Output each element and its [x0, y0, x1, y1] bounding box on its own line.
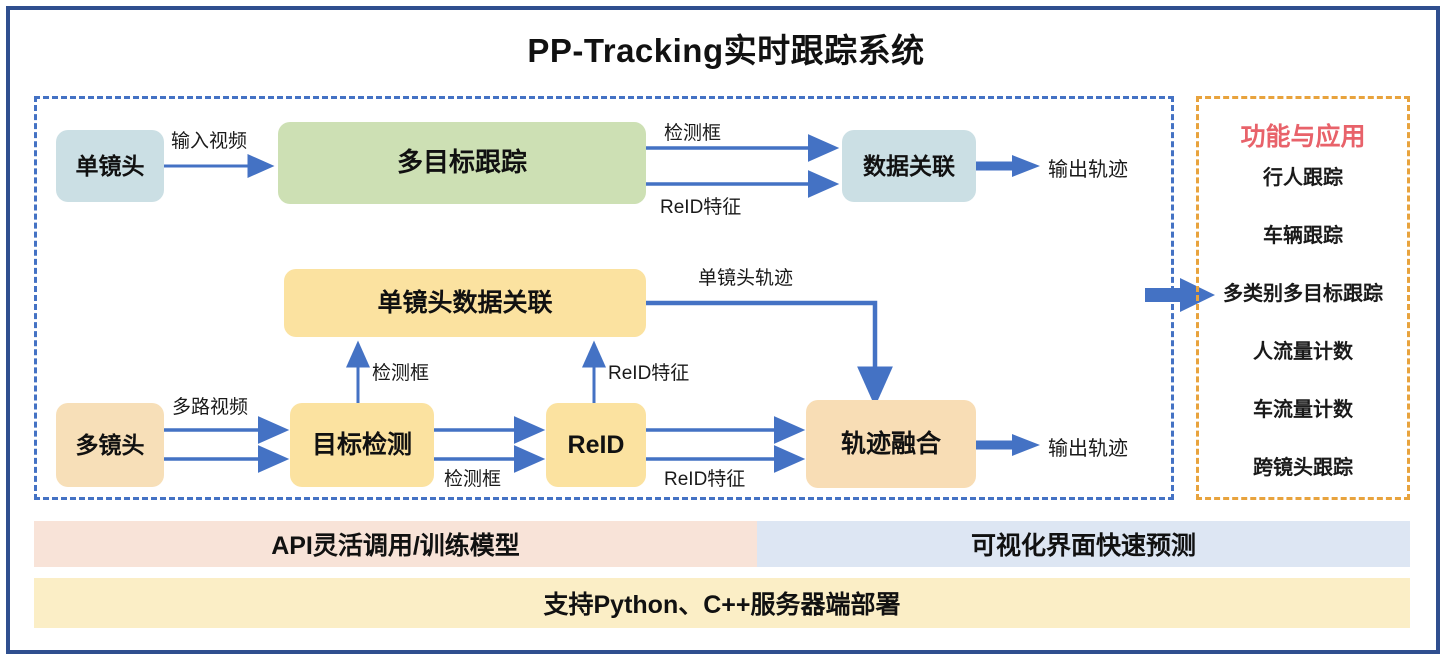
application-item[interactable]: 车流量计数	[1199, 393, 1407, 422]
label-reid-feat-bottom: ReID特征	[664, 464, 745, 491]
application-item[interactable]: 车辆跟踪	[1199, 219, 1407, 248]
label-output-trajectory-bottom: 输出轨迹	[1048, 432, 1128, 461]
label-det-box-up: 检测框	[372, 358, 429, 385]
node-single-camera-label: 单镜头	[76, 153, 145, 179]
label-reid-feat-top: ReID特征	[660, 192, 741, 219]
bar-api-usage[interactable]: API灵活调用/训练模型	[34, 521, 757, 567]
node-mot-label: 多目标跟踪	[397, 148, 527, 178]
applications-panel: 功能与应用 行人跟踪 车辆跟踪 多类别多目标跟踪 人流量计数 车流量计数 跨镜头…	[1196, 96, 1410, 500]
node-multi-camera[interactable]: 多镜头	[56, 403, 164, 487]
label-det-box-bottom: 检测框	[444, 464, 501, 491]
label-reid-feat-up: ReID特征	[608, 358, 689, 385]
bar-deployment-label: 支持Python、C++服务器端部署	[544, 585, 901, 621]
label-output-trajectory-top: 输出轨迹	[1048, 153, 1128, 182]
node-multi-camera-label: 多镜头	[76, 432, 145, 458]
label-det-box-top: 检测框	[664, 118, 721, 145]
node-assoc-label: 数据关联	[863, 153, 955, 179]
node-multi-object-tracking[interactable]: 多目标跟踪	[278, 122, 646, 204]
applications-title: 功能与应用	[1199, 117, 1407, 153]
label-multi-video: 多路视频	[172, 392, 248, 419]
label-single-trajectory: 单镜头轨迹	[698, 263, 793, 290]
bar-visualization[interactable]: 可视化界面快速预测	[757, 521, 1410, 567]
node-object-detection[interactable]: 目标检测	[290, 403, 434, 487]
node-single-assoc-label: 单镜头数据关联	[377, 289, 552, 318]
application-item[interactable]: 行人跟踪	[1199, 161, 1407, 190]
node-reid-label: ReID	[568, 431, 625, 460]
node-reid[interactable]: ReID	[546, 403, 646, 487]
node-fusion-label: 轨迹融合	[841, 430, 941, 459]
application-item[interactable]: 跨镜头跟踪	[1199, 451, 1407, 480]
application-item[interactable]: 人流量计数	[1199, 335, 1407, 364]
node-trajectory-fusion[interactable]: 轨迹融合	[806, 400, 976, 488]
bar-deployment[interactable]: 支持Python、C++服务器端部署	[34, 578, 1410, 628]
diagram-canvas: PP-Tracking实时跟踪系统	[0, 0, 1452, 664]
node-data-association[interactable]: 数据关联	[842, 130, 976, 202]
node-detection-label: 目标检测	[312, 431, 412, 460]
applications-list: 行人跟踪 车辆跟踪 多类别多目标跟踪 人流量计数 车流量计数 跨镜头跟踪	[1199, 161, 1407, 509]
bar-api-label: API灵活调用/训练模型	[271, 526, 520, 562]
page-title: PP-Tracking实时跟踪系统	[0, 24, 1452, 72]
label-input-video: 输入视频	[171, 126, 247, 153]
node-single-camera[interactable]: 单镜头	[56, 130, 164, 202]
bar-visualization-label: 可视化界面快速预测	[971, 526, 1196, 562]
application-item[interactable]: 多类别多目标跟踪	[1199, 277, 1407, 306]
node-single-camera-association[interactable]: 单镜头数据关联	[284, 269, 646, 337]
